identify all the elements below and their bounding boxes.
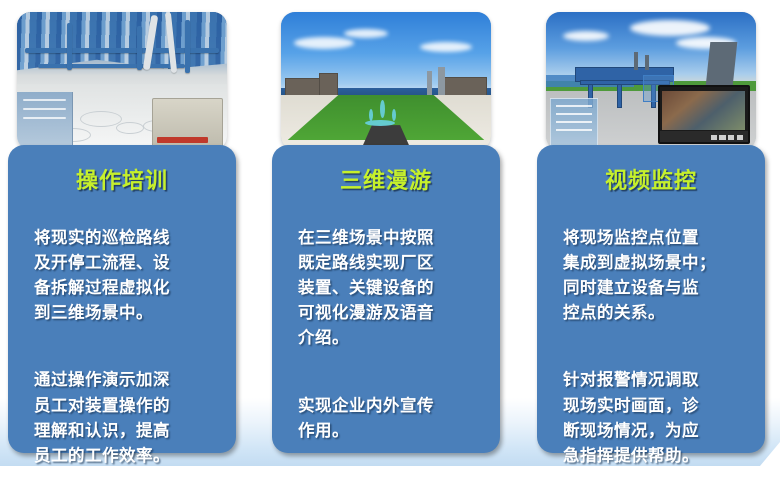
cloud — [344, 29, 388, 38]
card-panel: 视频监控 将现场监控点位置 集成到虚拟场景中； 同时建立设备与监 控点的关系。 … — [537, 145, 765, 453]
card-panel: 操作培训 将现实的巡检路线 及开停工流程、设 备拆解过程虚拟化 到三维场景中。 … — [8, 145, 236, 453]
card-thumbnail-three-d-roaming[interactable] — [281, 12, 491, 150]
card-body: 在三维场景中按照 既定路线实现厂区 装置、关键设备的 可视化漫游及语音 介绍。 … — [298, 201, 480, 469]
live-camera-feed — [662, 91, 745, 131]
monitor-button[interactable] — [728, 135, 734, 139]
card-paragraph: 通过操作演示加深 员工对装置操作的 理解和认识，提高 员工的工作效率。 — [34, 368, 216, 468]
monitor-control-bar — [660, 131, 748, 142]
hud-panel — [17, 92, 73, 150]
beam — [137, 26, 142, 70]
card-paragraph: 在三维场景中按照 既定路线实现厂区 装置、关键设备的 可视化漫游及语音 介绍。 — [298, 226, 480, 351]
building — [443, 77, 487, 97]
card-body: 将现实的巡检路线 及开停工流程、设 备拆解过程虚拟化 到三维场景中。 通过操作演… — [34, 201, 216, 494]
feature-card-three-d-roaming[interactable]: 三维漫游 在三维场景中按照 既定路线实现厂区 装置、关键设备的 可视化漫游及语音… — [272, 10, 500, 455]
feature-card-video-surveillance[interactable]: 视频监控 将现场监控点位置 集成到虚拟场景中； 同时建立设备与监 控点的关系。 … — [537, 10, 765, 455]
card-paragraph: 将现实的巡检路线 及开停工流程、设 备拆解过程虚拟化 到三维场景中。 — [34, 226, 216, 326]
rack-column — [617, 84, 622, 108]
tower-unit — [705, 42, 737, 86]
cloud — [420, 42, 472, 52]
tower — [427, 71, 432, 94]
tower — [438, 67, 445, 95]
beam — [67, 23, 72, 70]
stack — [634, 52, 638, 70]
video-monitor-inset[interactable] — [658, 85, 750, 144]
card-paragraph: 针对报警情况调取 现场实时画面，诊 断现场情况，为应 急指挥提供帮助。 — [563, 368, 745, 468]
monitor-button[interactable] — [737, 135, 743, 139]
3d-outdoor-campus-lawn-fountain-scene — [281, 12, 491, 150]
card-title: 操作培训 — [8, 163, 236, 195]
building — [319, 73, 338, 97]
feature-card-operation-training[interactable]: 操作培训 将现实的巡检路线 及开停工流程、设 备拆解过程虚拟化 到三维场景中。 … — [8, 10, 236, 455]
card-title: 三维漫游 — [272, 163, 500, 195]
card-paragraph: 实现企业内外宣传 作用。 — [298, 394, 480, 444]
card-thumbnail-operation-training[interactable] — [17, 12, 227, 150]
cloud — [294, 37, 354, 49]
monitor-button[interactable] — [711, 135, 717, 139]
card-paragraph: 将现场监控点位置 集成到虚拟场景中； 同时建立设备与监 控点的关系。 — [563, 226, 745, 326]
beam — [38, 64, 185, 68]
beam — [185, 20, 190, 72]
3d-indoor-plant-piping-scene — [17, 12, 227, 150]
monitor-button[interactable] — [719, 135, 725, 139]
cloud — [630, 20, 710, 36]
stack — [645, 55, 649, 70]
ceiling-pipes — [17, 12, 227, 78]
card-thumbnail-video-surveillance[interactable] — [546, 12, 756, 150]
3d-plant-with-video-monitor-inset-scene — [546, 12, 756, 150]
cloud — [563, 31, 609, 41]
equipment-unit — [152, 98, 223, 147]
fountain-jet — [380, 100, 385, 118]
card-body: 将现场监控点位置 集成到虚拟场景中； 同时建立设备与监 控点的关系。 针对报警情… — [563, 201, 745, 494]
feature-card-row: 操作培训 将现实的巡检路线 及开停工流程、设 备拆解过程虚拟化 到三维场景中。 … — [0, 0, 780, 491]
fountain-pool — [365, 120, 395, 126]
hud-panel — [550, 98, 598, 147]
card-panel: 三维漫游 在三维场景中按照 既定路线实现厂区 装置、关键设备的 可视化漫游及语音… — [272, 145, 500, 453]
card-title: 视频监控 — [537, 163, 765, 195]
